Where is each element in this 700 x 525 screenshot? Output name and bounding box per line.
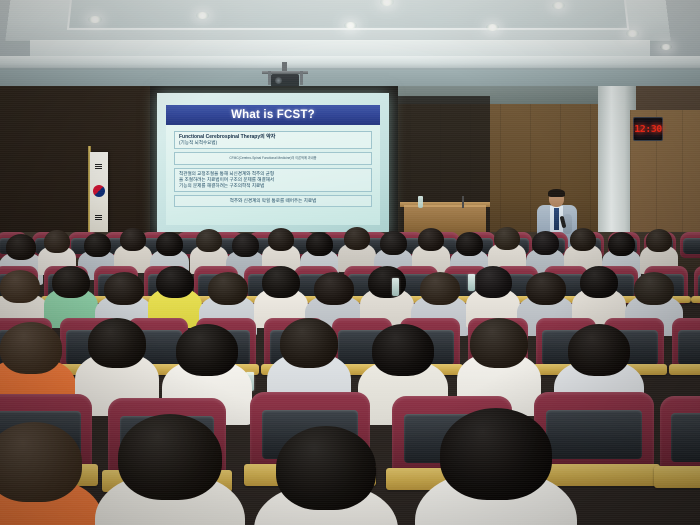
auditorium-seat — [534, 392, 654, 472]
audience-member — [344, 227, 370, 271]
audience-head — [232, 233, 259, 257]
audience-head — [440, 408, 552, 500]
audience-head — [118, 414, 222, 500]
trigram-icon — [95, 215, 102, 220]
audience-head — [0, 422, 82, 502]
audience-head — [474, 266, 512, 298]
downlight-icon — [626, 30, 639, 37]
projector-arm-right — [300, 71, 303, 85]
audience-head — [306, 232, 333, 256]
audience-head — [120, 228, 146, 251]
audience-head — [276, 426, 376, 510]
downlight-icon — [344, 22, 357, 29]
wall-dark-left — [0, 86, 160, 236]
water-bottle — [392, 278, 399, 296]
audience-head — [156, 232, 183, 256]
audience-head — [532, 231, 559, 255]
audience-head — [0, 270, 40, 303]
slide-body: Functional Cerebrospinal Therapy의 약자 (기능… — [174, 131, 372, 210]
audience-head — [262, 266, 300, 298]
projector-lens-icon — [275, 77, 282, 84]
audience-head — [156, 266, 194, 298]
water-bottle — [418, 196, 423, 208]
presentation-slide: What is FCST? Functional Cerebrospinal T… — [166, 105, 380, 225]
downlight-icon — [552, 2, 565, 9]
audience-head — [84, 233, 111, 257]
ceiling-light-panel — [5, 0, 671, 44]
downlight-icon — [486, 24, 499, 31]
clock-digits: 12:30 — [634, 124, 662, 135]
seat-cushion — [683, 238, 700, 254]
audience-head — [44, 230, 70, 253]
audience-head — [176, 324, 238, 376]
downlight-icon — [660, 44, 672, 50]
projector-mount — [282, 62, 287, 71]
folding-desk — [669, 364, 700, 375]
audience-head — [570, 228, 596, 251]
audience-head — [418, 228, 444, 251]
slide-summary-line: 척추와 신경계의 막힐 통로를 떼어주는 치료법 — [179, 198, 367, 204]
audience-head — [88, 318, 146, 368]
audience-head — [526, 272, 566, 305]
audience-head — [494, 227, 520, 250]
ceiling-band — [0, 56, 700, 70]
audience-head — [104, 272, 144, 305]
audience-head — [52, 266, 90, 298]
auditorium-seat — [660, 396, 700, 474]
trigram-icon — [95, 164, 102, 169]
audience-head — [420, 272, 460, 305]
audience-head — [280, 318, 338, 368]
slide-line-korean: (기능적 뇌척수요법) — [179, 140, 367, 146]
slide-desc-line-3: 기능의 문제를 해결하려는 구조의학적 치료법 — [179, 183, 367, 189]
audience-head — [568, 324, 630, 376]
water-bottle — [468, 274, 475, 291]
audience-seating — [0, 226, 700, 525]
folding-desk — [654, 466, 700, 488]
audience-member — [118, 414, 222, 525]
audience-member — [0, 422, 82, 525]
presenter-hair — [548, 189, 565, 197]
audience-member — [440, 408, 552, 525]
seat-cushion — [671, 413, 700, 461]
audience-head — [608, 232, 635, 256]
slide-box-summary: 척추와 신경계의 막힐 통로를 떼어주는 치료법 — [174, 195, 372, 207]
led-clock: 12:30 — [633, 117, 663, 141]
audience-head — [196, 229, 222, 252]
downlight-icon — [196, 12, 209, 19]
slide-box-description: 척관절의 교정조절을 통해 뇌신경계와 척추의 균형 을 조절하려는 치료법이며… — [174, 168, 372, 193]
auditorium-seat — [680, 232, 700, 258]
slide-line-small: CFMC(Cerebro-Spinal Functional Medicine)… — [179, 155, 367, 161]
slide-box-note: CFMC(Cerebro-Spinal Functional Medicine)… — [174, 152, 372, 164]
audience-head — [0, 322, 62, 374]
audience-head — [456, 232, 483, 256]
audience-head — [314, 272, 354, 305]
audience-head — [208, 272, 248, 305]
microphone-stand — [462, 196, 464, 208]
audience-head — [372, 324, 434, 376]
slide-title-bar: What is FCST? — [166, 105, 380, 125]
taeguk-icon — [93, 185, 105, 197]
seat-cushion — [678, 330, 700, 365]
audience-head — [470, 318, 528, 368]
slide-title: What is FCST? — [231, 109, 315, 121]
audience-head — [268, 228, 294, 251]
audience-head — [6, 234, 36, 260]
audience-head — [380, 231, 407, 255]
folding-desk — [691, 296, 700, 303]
audience-head — [344, 227, 370, 250]
audience-head — [634, 272, 674, 305]
seat-cushion — [546, 410, 642, 460]
audience-head — [580, 266, 618, 298]
audience-head — [368, 266, 406, 298]
audience-head — [646, 229, 672, 252]
ceiling — [0, 0, 700, 86]
slide-box-definition: Functional Cerebrospinal Therapy의 약자 (기능… — [174, 131, 372, 149]
audience-member — [494, 227, 520, 271]
auditorium-photo: 12:30 What is FCST? Functional Cerebrosp… — [0, 0, 700, 525]
projection-screen: What is FCST? Functional Cerebrospinal T… — [157, 93, 389, 236]
downlight-icon — [88, 16, 102, 23]
audience-member — [276, 426, 376, 525]
